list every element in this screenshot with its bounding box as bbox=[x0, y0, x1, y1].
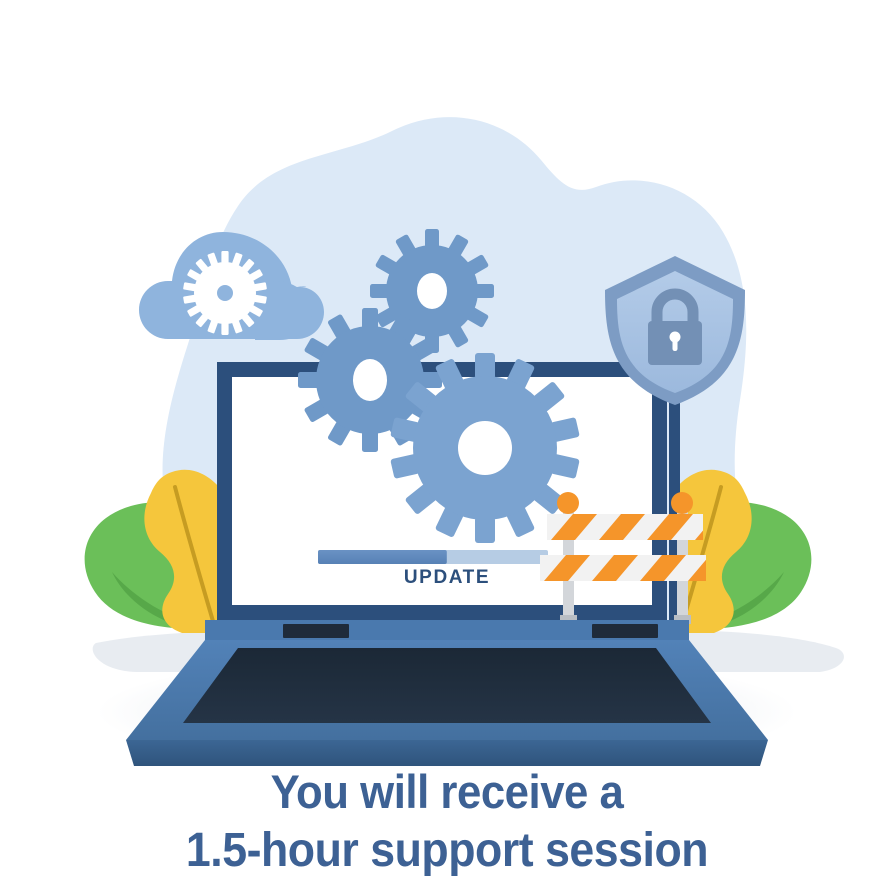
plant-left bbox=[85, 470, 219, 633]
progress-fill bbox=[318, 550, 447, 564]
illustration-canvas: UPDATE You will receive a 1.5-hour suppo… bbox=[0, 0, 894, 894]
barrier-lamp-left bbox=[557, 492, 579, 514]
update-progress-bar bbox=[318, 550, 548, 564]
barrier-plank-lower bbox=[540, 555, 734, 581]
laptop-hinge-vent-right bbox=[592, 624, 658, 638]
barrier-lamp-right bbox=[671, 492, 693, 514]
laptop-front-edge bbox=[126, 740, 768, 766]
update-status-label: UPDATE bbox=[404, 567, 490, 588]
laptop-base bbox=[126, 620, 768, 766]
plant-right bbox=[677, 470, 811, 633]
laptop-hinge-vent-left bbox=[283, 624, 349, 638]
illustration-svg: UPDATE bbox=[0, 0, 894, 894]
padlock-keyhole-slot bbox=[673, 337, 678, 351]
laptop-keyboard-area bbox=[183, 648, 711, 723]
